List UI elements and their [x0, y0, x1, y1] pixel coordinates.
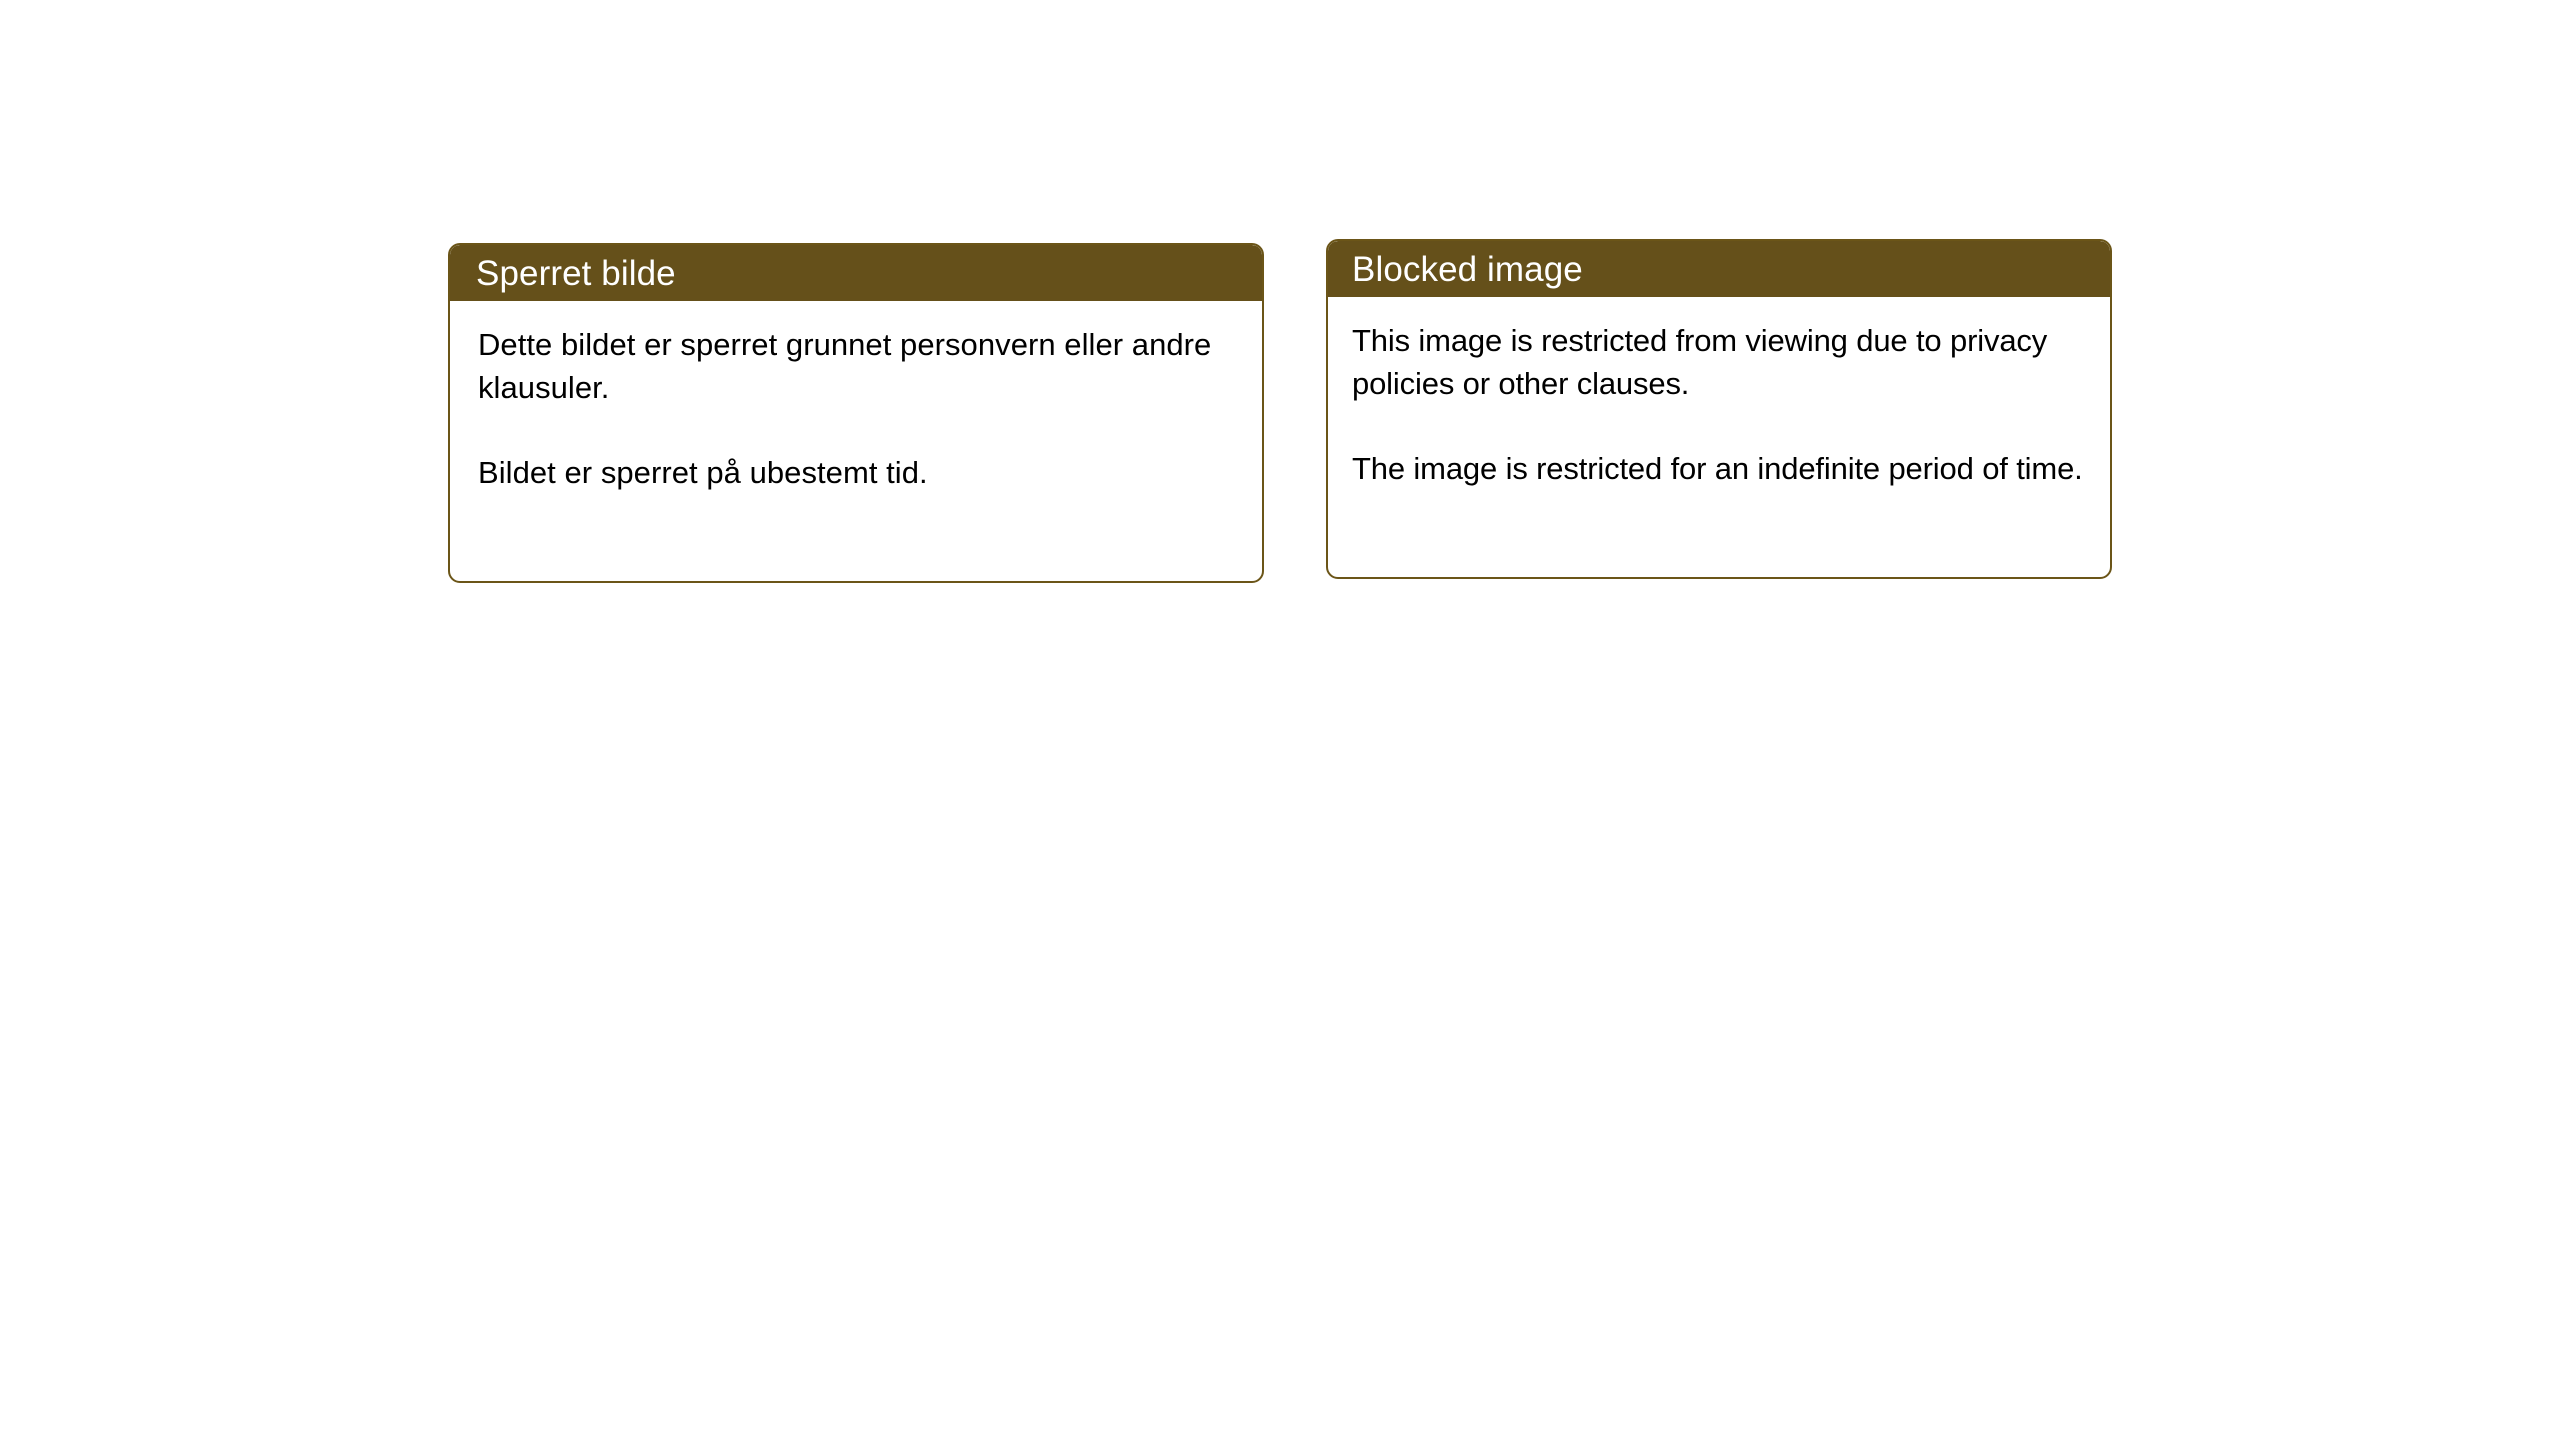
card-title-norwegian: Sperret bilde: [476, 256, 676, 291]
card-title-english: Blocked image: [1352, 252, 1583, 287]
card-body-norwegian: Dette bildet er sperret grunnet personve…: [450, 301, 1262, 494]
card-header-english: Blocked image: [1328, 241, 2110, 297]
blocked-image-notice-norwegian: Sperret bilde Dette bildet er sperret gr…: [448, 243, 1264, 583]
page-canvas: Sperret bilde Dette bildet er sperret gr…: [0, 0, 2560, 1440]
card-body-english: This image is restricted from viewing du…: [1328, 297, 2110, 490]
blocked-image-notice-english: Blocked image This image is restricted f…: [1326, 239, 2112, 579]
card-paragraph-norwegian-1: Dette bildet er sperret grunnet personve…: [478, 323, 1236, 409]
card-paragraph-english-1: This image is restricted from viewing du…: [1352, 319, 2092, 405]
card-paragraph-english-2: The image is restricted for an indefinit…: [1352, 447, 2092, 490]
card-paragraph-norwegian-2: Bildet er sperret på ubestemt tid.: [478, 451, 1236, 494]
card-header-norwegian: Sperret bilde: [450, 245, 1262, 301]
